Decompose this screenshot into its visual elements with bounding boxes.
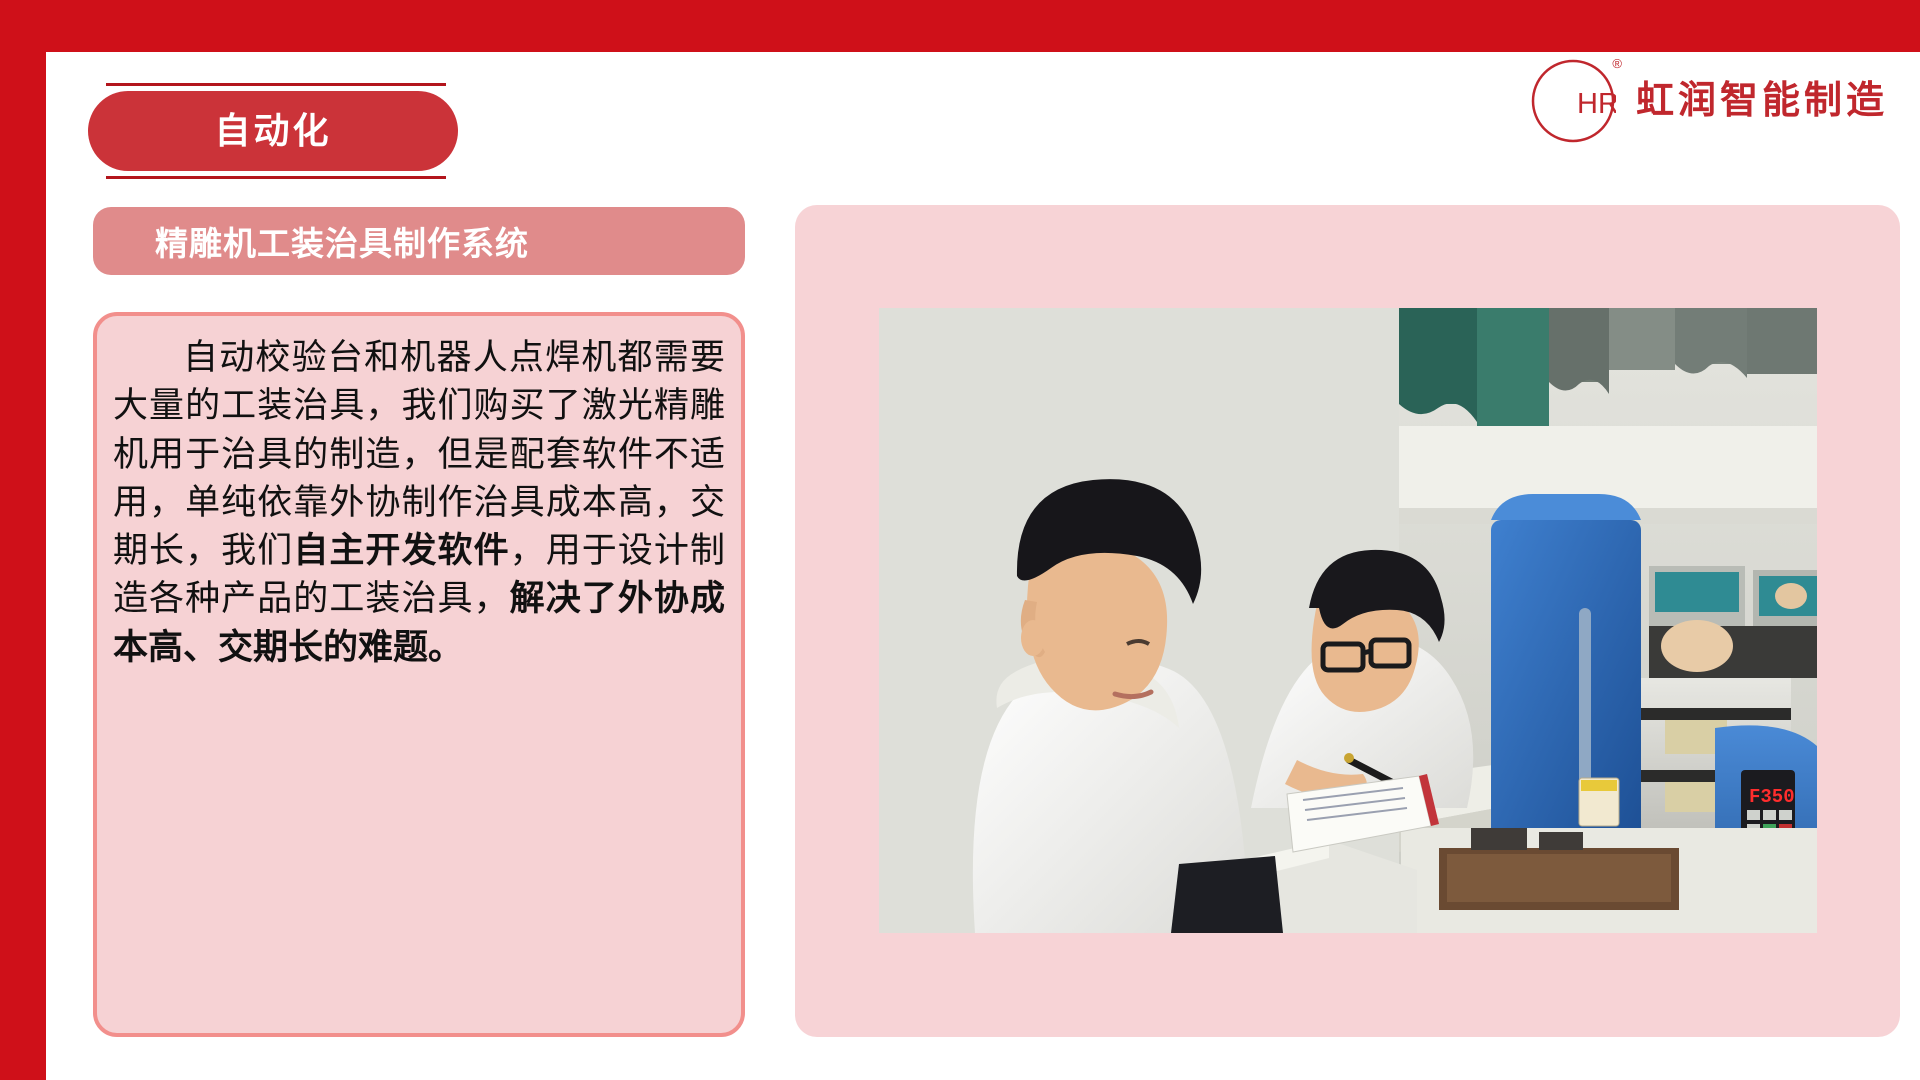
- photo-frame: F350: [795, 205, 1900, 1037]
- frame-left-bar: [0, 0, 46, 1080]
- section-subtitle: 精雕机工装治具制作系统: [155, 217, 529, 265]
- section-subtitle-bar: 精雕机工装治具制作系统: [93, 207, 745, 275]
- category-pill-group: 自动化: [88, 58, 458, 180]
- pill-rule-bottom: [106, 176, 446, 179]
- company-name: 虹润智能制造: [1636, 82, 1888, 120]
- body-emphasis: 自主开发软件: [293, 531, 509, 570]
- slide-root: 自动化 HR ® 虹润智能制造 精雕机工装治具制作系统 自动校验台和机器人点焊机…: [0, 0, 1920, 1080]
- body-text-panel: 自动校验台和机器人点焊机都需要大量的工装治具，我们购买了激光精雕机用于治具的制造…: [93, 312, 745, 1037]
- body-paragraph: 自动校验台和机器人点焊机都需要大量的工装治具，我们购买了激光精雕机用于治具的制造…: [113, 334, 725, 672]
- svg-text:HR: HR: [1577, 88, 1616, 120]
- frame-top-bar: [0, 0, 1920, 52]
- pill-rule-top: [106, 83, 446, 86]
- workshop-photo: F350: [879, 308, 1817, 933]
- hr-circle-logo-icon: HR ®: [1530, 58, 1616, 144]
- category-pill: 自动化: [88, 91, 458, 171]
- brand-logo: HR ® 虹润智能制造: [1530, 58, 1888, 144]
- category-label: 自动化: [214, 113, 331, 149]
- machine-display-value: F350: [1749, 786, 1795, 808]
- registered-trademark-icon: ®: [1612, 56, 1622, 71]
